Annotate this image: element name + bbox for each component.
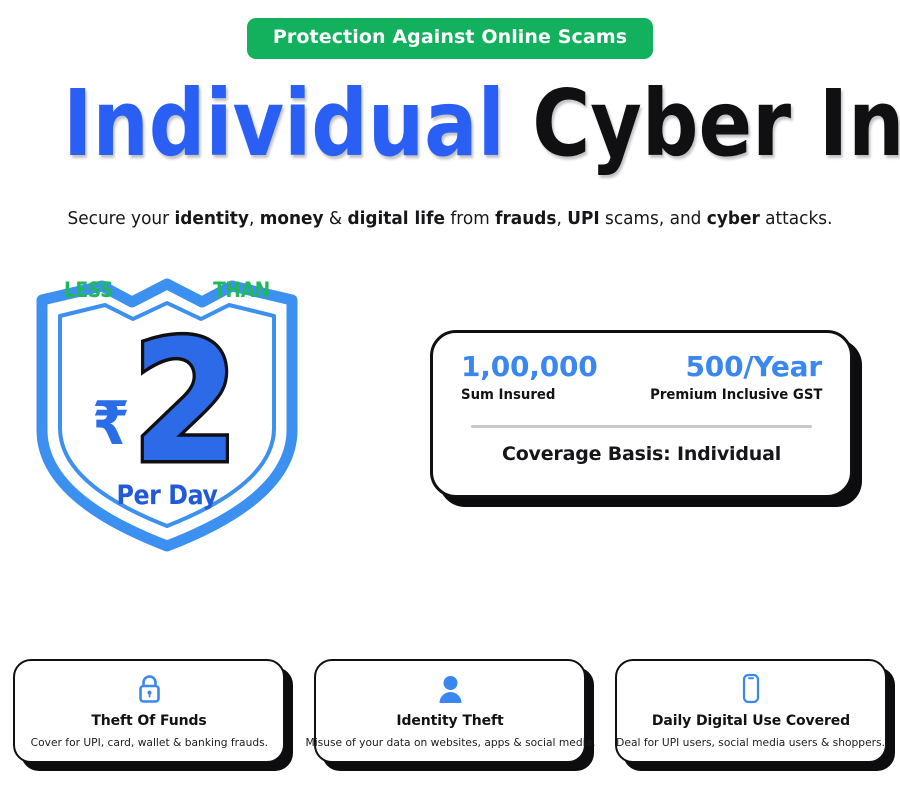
lock-icon — [136, 672, 163, 706]
feature-card-theft-of-funds: Theft Of Funds Cover for UPI, card, wall… — [13, 659, 285, 763]
subtitle-text-2: , — [249, 208, 260, 229]
subtitle-bold-2: money — [260, 208, 324, 229]
feature-description: Deal for UPI users, social media users &… — [617, 736, 886, 749]
subtitle-text-6: scams, and — [600, 208, 707, 229]
subtitle-text-3: & — [324, 208, 348, 229]
page-title-part-2: Cyber Insurance — [532, 70, 900, 177]
subtitle-bold-3: digital life — [347, 208, 444, 229]
sum-insured-label: Sum Insured — [461, 387, 591, 403]
pricing-divider — [471, 425, 812, 428]
feature-card-list: Theft Of Funds Cover for UPI, card, wall… — [0, 659, 900, 763]
page-title: Individual Cyber Insurance — [63, 78, 837, 170]
smartphone-icon — [740, 672, 762, 706]
sum-insured-block: 1,00,000 Sum Insured — [461, 351, 598, 403]
subtitle-bold-1: identity — [174, 208, 248, 229]
premium-label: Premium Inclusive GST — [650, 387, 822, 403]
shield-price-group: ₹ 2 — [12, 322, 322, 482]
coverage-basis-text: Coverage Basis: Individual — [461, 443, 822, 465]
shield-less-label: LESS — [64, 278, 113, 302]
poster-root: Protection Against Online Scams Individu… — [0, 0, 900, 805]
shield-per-day-label: Per Day — [31, 480, 304, 511]
feature-title: Identity Theft — [396, 713, 503, 729]
subtitle-bold-6: cyber — [707, 208, 760, 229]
sum-insured-value: 1,00,000 — [461, 351, 598, 383]
page-subtitle: Secure your identity, money & digital li… — [27, 208, 873, 229]
subtitle-text-1: Secure your — [68, 208, 175, 229]
protection-badge: Protection Against Online Scams — [247, 18, 653, 59]
premium-block: 500/Year Premium Inclusive GST — [641, 351, 822, 403]
feature-title: Daily Digital Use Covered — [652, 713, 850, 729]
shield-than-label: THAN — [213, 278, 270, 302]
price-shield-badge: LESS THAN ₹ 2 Per Day — [12, 262, 322, 552]
feature-description: Misuse of your data on websites, apps & … — [305, 736, 595, 749]
feature-description: Cover for UPI, card, wallet & banking fr… — [30, 736, 267, 749]
pricing-card: 1,00,000 Sum Insured 500/Year Premium In… — [430, 330, 853, 498]
page-title-part-1: Individual — [63, 70, 505, 177]
subtitle-bold-4: frauds — [495, 208, 556, 229]
shield-amount: 2 — [132, 330, 240, 474]
subtitle-text-4: from — [445, 208, 495, 229]
feature-title: Theft Of Funds — [91, 713, 206, 729]
person-icon — [436, 672, 465, 706]
rupee-icon: ₹ — [92, 394, 130, 454]
subtitle-text-7: attacks. — [760, 208, 833, 229]
subtitle-text-5: , — [556, 208, 567, 229]
feature-card-identity-theft: Identity Theft Misuse of your data on we… — [314, 659, 586, 763]
shield-top-labels: LESS THAN — [31, 278, 304, 302]
pricing-columns: 1,00,000 Sum Insured 500/Year Premium In… — [461, 351, 822, 403]
subtitle-bold-5: UPI — [567, 208, 599, 229]
premium-value: 500/Year — [641, 351, 822, 383]
feature-card-daily-digital-use: Daily Digital Use Covered Deal for UPI u… — [615, 659, 887, 763]
badge-row: Protection Against Online Scams — [0, 18, 900, 59]
